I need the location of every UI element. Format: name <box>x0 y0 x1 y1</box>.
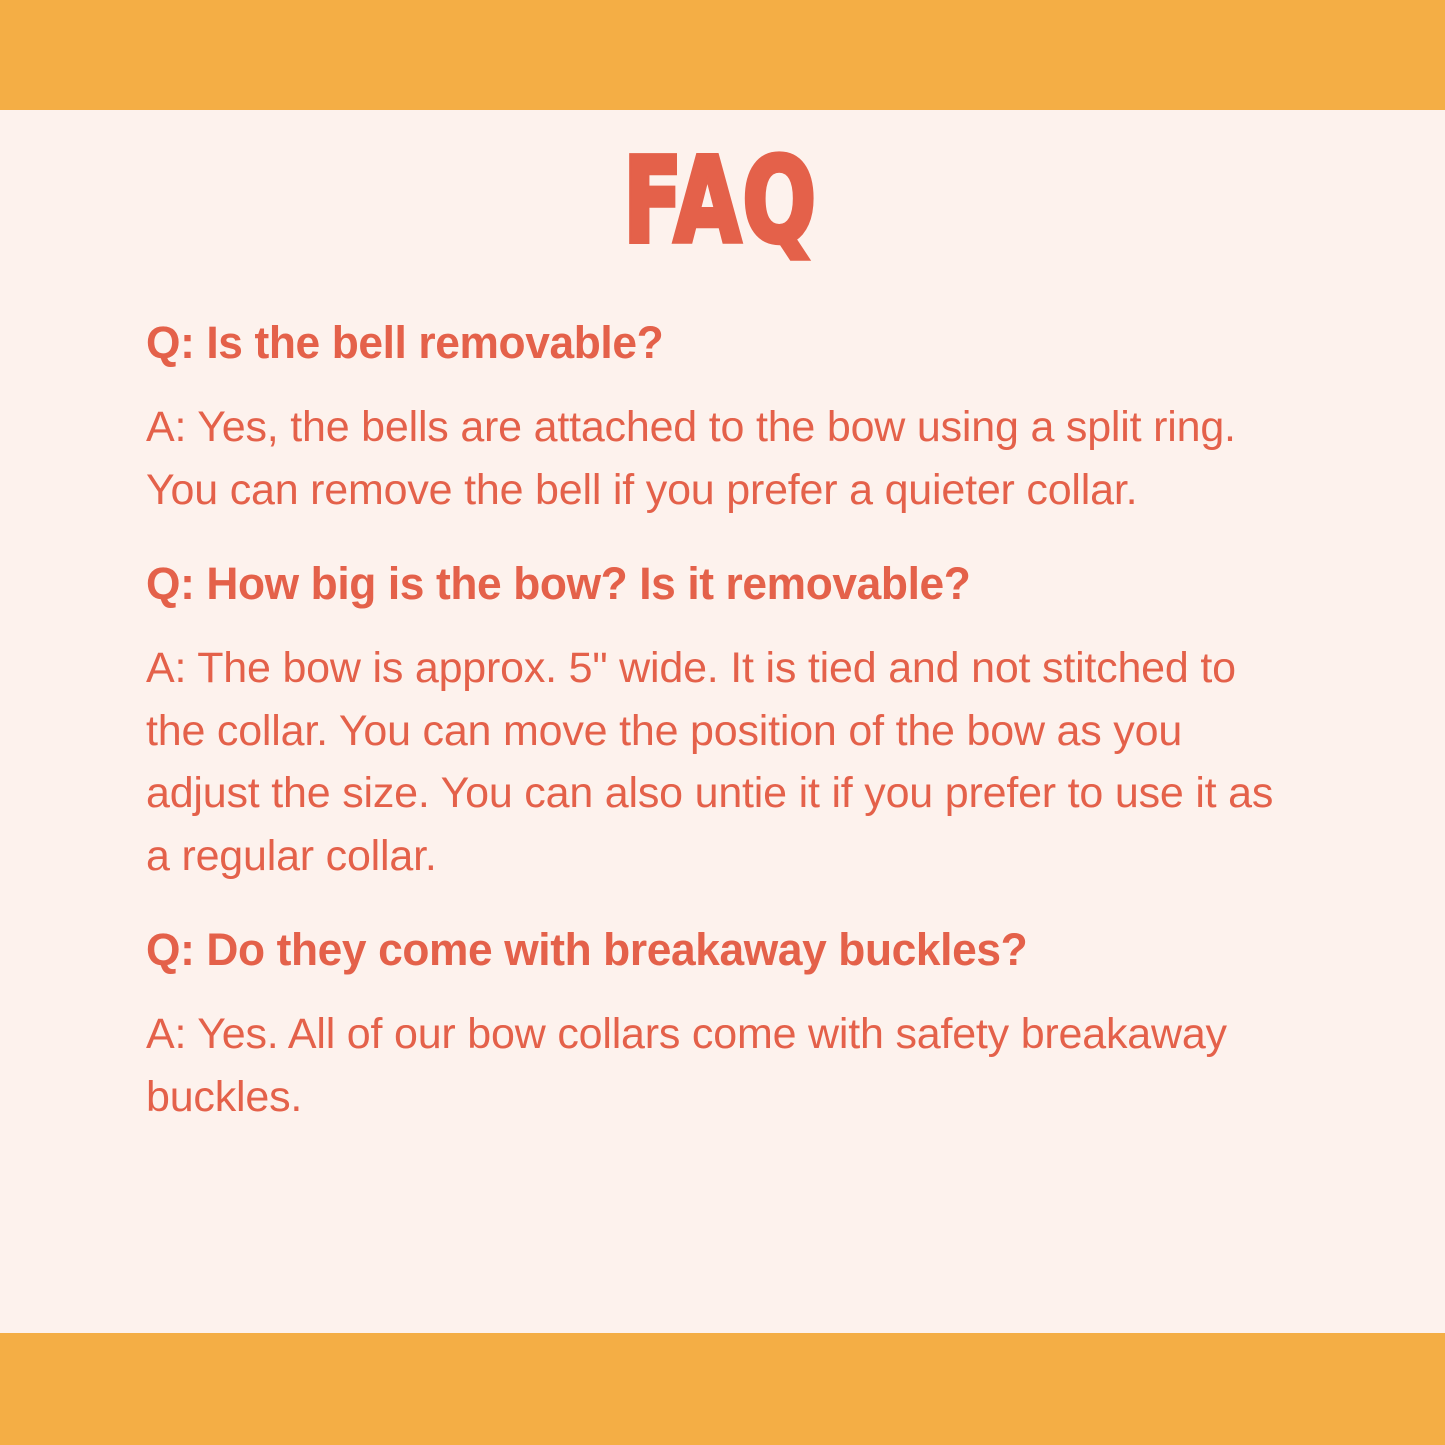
faq-question: Q: Do they come with breakaway buckles? <box>146 925 1278 975</box>
faq-poster: FAQ Q: Is the bell removable? A: Yes, th… <box>0 0 1445 1445</box>
faq-answer: A: Yes, the bells are attached to the bo… <box>146 396 1291 521</box>
faq-item: Q: Is the bell removable? A: Yes, the be… <box>146 318 1295 521</box>
faq-question: Q: How big is the bow? Is it removable? <box>146 559 1278 609</box>
faq-list: Q: Is the bell removable? A: Yes, the be… <box>146 318 1295 1128</box>
faq-answer: A: Yes. All of our bow collars come with… <box>146 1003 1291 1128</box>
title-container: FAQ <box>146 144 1295 252</box>
top-decorative-band <box>0 0 1445 110</box>
faq-question: Q: Is the bell removable? <box>146 318 1278 368</box>
faq-answer: A: The bow is approx. 5" wide. It is tie… <box>146 637 1295 886</box>
page-title: FAQ <box>623 144 817 261</box>
faq-content-area: FAQ Q: Is the bell removable? A: Yes, th… <box>0 110 1445 1333</box>
bottom-decorative-band <box>0 1333 1445 1445</box>
faq-item: Q: Do they come with breakaway buckles? … <box>146 925 1295 1128</box>
faq-item: Q: How big is the bow? Is it removable? … <box>146 559 1295 887</box>
